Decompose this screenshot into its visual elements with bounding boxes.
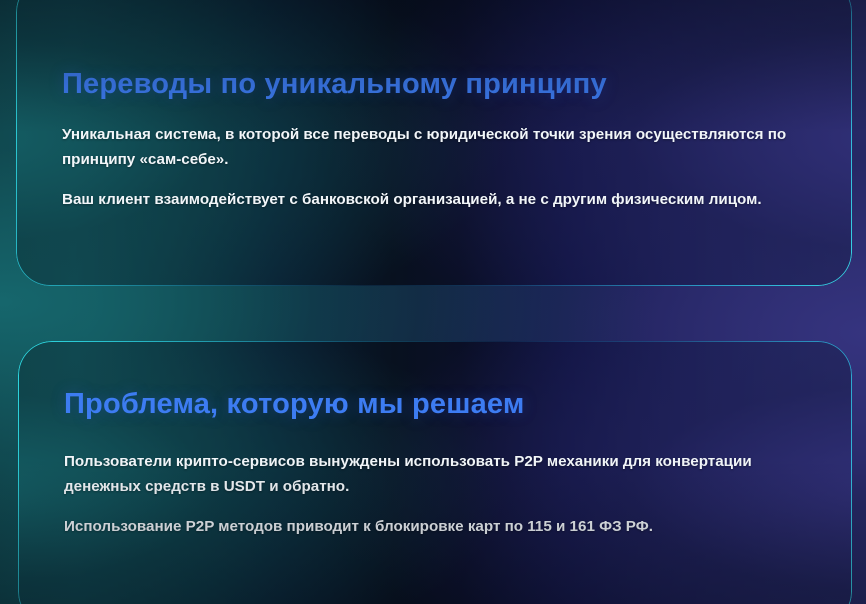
card-transfers: Переводы по уникальному принципу Уникаль… <box>16 0 852 286</box>
card-transfers-paragraph-1: Уникальная система, в которой все перево… <box>62 122 788 172</box>
card-transfers-heading: Переводы по уникальному принципу <box>62 68 607 101</box>
card-transfers-paragraph-2: Ваш клиент взаимодействует с банковской … <box>62 187 762 212</box>
card-problem-paragraph-2: Использование P2P методов приводит к бло… <box>64 514 804 539</box>
card-problem-heading: Проблема, которую мы решаем <box>64 388 525 421</box>
card-problem-paragraph-1: Пользователи крипто-сервисов вынуждены и… <box>64 449 794 499</box>
card-transfers-content: Переводы по уникальному принципу Уникаль… <box>16 0 852 286</box>
page-background: Переводы по уникальному принципу Уникаль… <box>0 0 866 604</box>
card-problem: Проблема, которую мы решаем Пользователи… <box>18 341 852 604</box>
card-problem-content: Проблема, которую мы решаем Пользователи… <box>18 341 852 604</box>
